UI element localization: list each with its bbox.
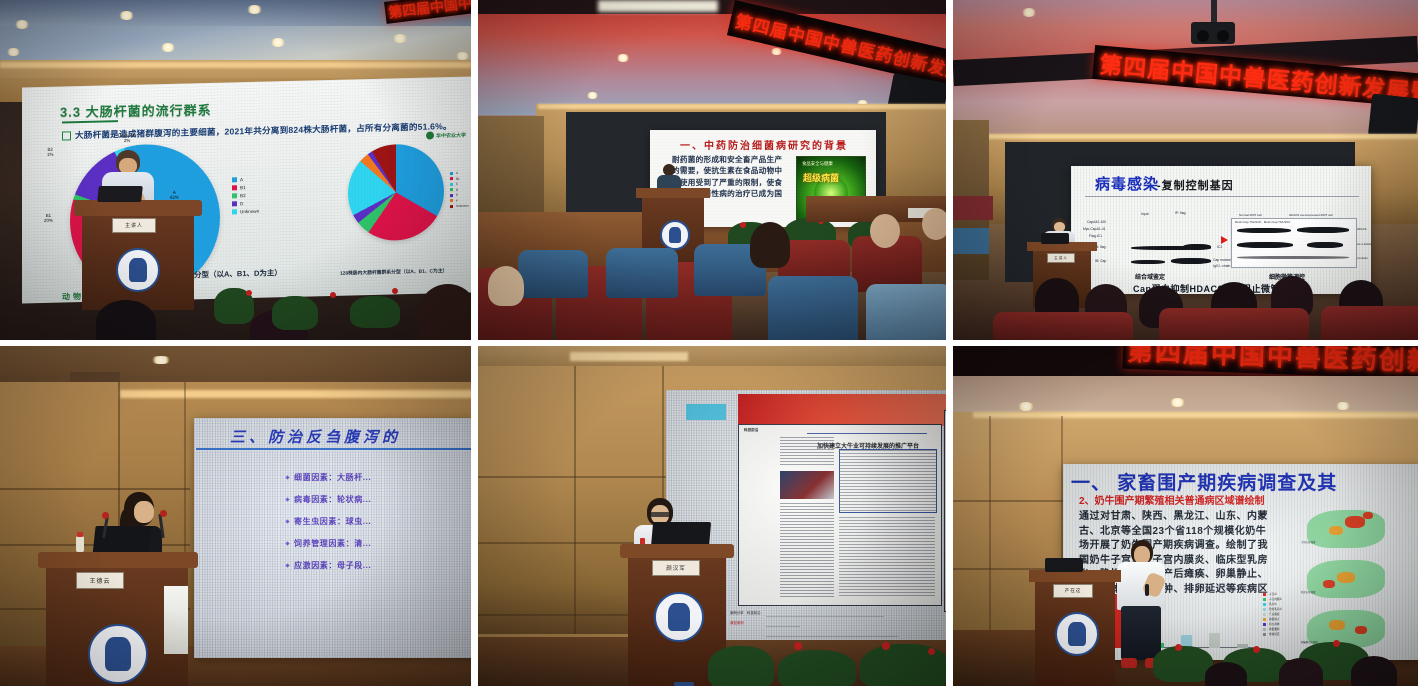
blot-row-label: IB: Cap xyxy=(1095,259,1106,263)
document-section-tag: 科技前沿 xyxy=(744,428,758,433)
bullet-text: 病毒因素：轮状病... xyxy=(294,494,371,505)
slide-bullet: 饲养管理因素：清... xyxy=(286,538,371,549)
legend-label: 卵巢囊肿 xyxy=(1269,627,1279,631)
bar-chart-legend: 子宫炎 子宫内膜炎 乳房炎 隐性乳房炎 产后瘫痪 卵巢静止 持久黄体 卵巢囊肿 … xyxy=(1263,592,1282,636)
pie-chart-secondary xyxy=(348,143,444,241)
panel-top-middle[interactable]: ←出口→ 第四届中国中兽医药创新发展暨动物疫病防控 一、中药防治细菌病研究的背景… xyxy=(478,0,946,340)
university-crest-icon xyxy=(660,220,690,250)
legend-label: D xyxy=(240,201,243,206)
university-crest-icon xyxy=(654,592,704,642)
slide-bullet: 细菌因素：大肠杆... xyxy=(286,472,371,483)
arrow-icon xyxy=(1221,236,1228,244)
slide-title: 3.3 大肠杆菌的流行群系 xyxy=(60,100,212,121)
slide-subtitle: 2、奶牛围产期繁殖相关普通病区域谱绘制 xyxy=(1079,492,1265,507)
university-logo-text: 华中农业大学 xyxy=(436,131,466,139)
blot-header: HDAC6 overexpressed 293T cell xyxy=(1289,213,1333,217)
blot-header: Normal 293T cell xyxy=(1239,213,1262,217)
map-figure: 乳房炎区域谱 xyxy=(1299,556,1395,602)
legend-label: A xyxy=(240,177,243,182)
legend-label: 子宫炎 xyxy=(1269,592,1277,596)
pie-label-unknown: Unknown2% xyxy=(118,133,136,144)
pie-label-A: A62% xyxy=(170,190,179,200)
pie-label-B1: B120% xyxy=(44,213,53,223)
gutter xyxy=(471,346,478,686)
diamond-bullet-icon xyxy=(285,519,289,523)
panel-top-right[interactable]: ←出口→ 第四届中国中兽医药创新发展暨动物疫病防控 病毒感染 -复制控制基因 C… xyxy=(953,0,1418,340)
figure-caption-left: 结合域鉴定 xyxy=(1135,272,1165,281)
diamond-bullet-icon xyxy=(285,475,289,479)
speaker-nameplate: 产在这 xyxy=(1053,584,1093,598)
speaker-nameplate: 主讲人 xyxy=(112,218,156,233)
bar xyxy=(1209,633,1220,648)
blot-row-label: Flag-IC1 xyxy=(1089,234,1102,238)
legend-item: A xyxy=(232,177,259,183)
blot-header: IP: flag xyxy=(1175,211,1186,215)
blot-row-label: Myc-CapΔ1-41 xyxy=(1083,227,1106,231)
document-photo xyxy=(780,471,834,499)
legend-item: B1 xyxy=(232,185,259,191)
slide-title: 一、 家畜围产期疾病调查及其 xyxy=(1071,468,1337,495)
blot-header: Input xyxy=(1141,212,1149,216)
slide-bullet: 病毒因素：轮状病... xyxy=(286,494,371,505)
document-page: 科技前沿 加快建立大牛业可持续发展的推广平台 xyxy=(738,424,942,606)
map-figure: 子宫炎区域谱 xyxy=(1299,506,1395,552)
bullet-text: 应激因素：母子段... xyxy=(294,560,371,571)
university-crest-icon xyxy=(1055,612,1099,656)
square-bullet-icon xyxy=(62,131,71,140)
pie-label-B2: B21% xyxy=(47,147,53,157)
panel-bottom-middle[interactable]: 科技前沿 加快建立大牛业可持续发展的推广平台 xyxy=(478,346,946,686)
podium: 主讲人 xyxy=(82,200,194,310)
legend-label: 持久黄体 xyxy=(1269,622,1279,626)
speaker-nameplate: 颜汉军 xyxy=(652,560,700,576)
presentation-screen: 三、防治反刍腹泻的 细菌因素：大肠杆... 病毒因素：轮状病... 寄生虫因素：… xyxy=(194,418,471,658)
legend-label: B1 xyxy=(240,185,246,190)
slide-image-subcaption: 食品安全与健康 xyxy=(802,161,833,167)
blot-annotation: Cap mutant xyxy=(1213,258,1231,262)
panel-bottom-left[interactable]: 三、防治反刍腹泻的 细菌因素：大肠杆... 病毒因素：轮状病... 寄生虫因素：… xyxy=(0,346,471,686)
legend-item: B2 xyxy=(232,193,259,199)
speaker-nameplate: 王德云 xyxy=(76,572,124,589)
blot-annotation: α-tubulin xyxy=(1357,256,1368,260)
presentation-screen: 病毒感染 -复制控制基因 CapΔ42-100 Myc-CapΔ1-41 Fla… xyxy=(1071,166,1371,294)
legend-label: 产后瘫痪 xyxy=(1269,612,1279,616)
gutter xyxy=(471,0,478,340)
document-page-right xyxy=(944,410,946,612)
slide-bullet: 应激因素：母子段... xyxy=(286,560,371,571)
legend-item: Unknown xyxy=(232,209,259,215)
bullet-text: 寄生虫因素：球虫... xyxy=(294,516,371,527)
bullet-text: 细菌因素：大肠杆... xyxy=(294,472,371,483)
slide-title: 三、防治反刍腹泻的 xyxy=(230,426,401,447)
gutter xyxy=(946,0,953,340)
speaker-nameplate: 主讲人 xyxy=(1047,253,1075,263)
pie-legend: A B1 B2 D Unknown xyxy=(232,177,259,215)
slide-title-emphasis: 病毒感染 xyxy=(1095,173,1159,194)
panel-top-left[interactable]: 第四届中国中兽医药创新发展暨动物疫病防控 3.3 大肠杆菌的流行群系 大肠杆菌是… xyxy=(0,0,471,340)
panel-bottom-right[interactable]: 第四届中国中兽医药创新发展暨动物疫病防控 一、 家畜围产期疾病调查及其 2、奶牛… xyxy=(953,346,1418,686)
legend-label: B2 xyxy=(240,193,246,198)
photo-collage: 第四届中国中兽医药创新发展暨动物疫病防控 3.3 大肠杆菌的流行群系 大肠杆菌是… xyxy=(0,0,1418,686)
blot-row-label: CapΔ42-100 xyxy=(1087,220,1106,224)
diamond-bullet-icon xyxy=(285,497,289,501)
diamond-bullet-icon xyxy=(285,563,289,567)
slide-footer-right: 128株肠内大肠杆菌群系分型（以A、B1、C为主） xyxy=(340,267,447,277)
university-crest-icon xyxy=(88,624,148,684)
slide-image-caption: 超级病菌 xyxy=(803,171,839,184)
legend-label: 隐性乳房炎 xyxy=(1269,607,1282,611)
university-logo: 华中农业大学 xyxy=(426,131,466,140)
blot-annotation: IgG L chain xyxy=(1213,264,1230,268)
slide-title: 一、中药防治细菌病研究的背景 xyxy=(680,137,848,152)
podium: 产在这 xyxy=(1035,570,1115,686)
gutter xyxy=(946,346,953,686)
blot-annotation: HDAC6 xyxy=(1357,227,1366,231)
bullet-text: 饲养管理因素：清... xyxy=(294,538,371,549)
university-crest-icon xyxy=(116,248,160,292)
blot-annotation: IC1 xyxy=(1217,245,1222,249)
slide-bullet: 寄生虫因素：球虫... xyxy=(286,516,371,527)
podium: 王德云 xyxy=(46,552,188,686)
legend-label: Unknown xyxy=(240,209,259,214)
legend-label: 乳房炎 xyxy=(1269,602,1277,606)
diamond-bullet-icon xyxy=(285,541,289,545)
legend-label: 卵巢静止 xyxy=(1269,617,1279,621)
legend-label: 子宫内膜炎 xyxy=(1269,597,1282,601)
pie-legend-secondary: A B1 C D E F Unknown xyxy=(450,171,469,208)
slide-title-rest: -复制控制基因 xyxy=(1157,177,1234,193)
legend-label: 排卵延迟 xyxy=(1269,632,1279,636)
legend-item: D xyxy=(232,201,259,207)
blot-annotation: Ac-α-tubulin xyxy=(1357,242,1371,246)
